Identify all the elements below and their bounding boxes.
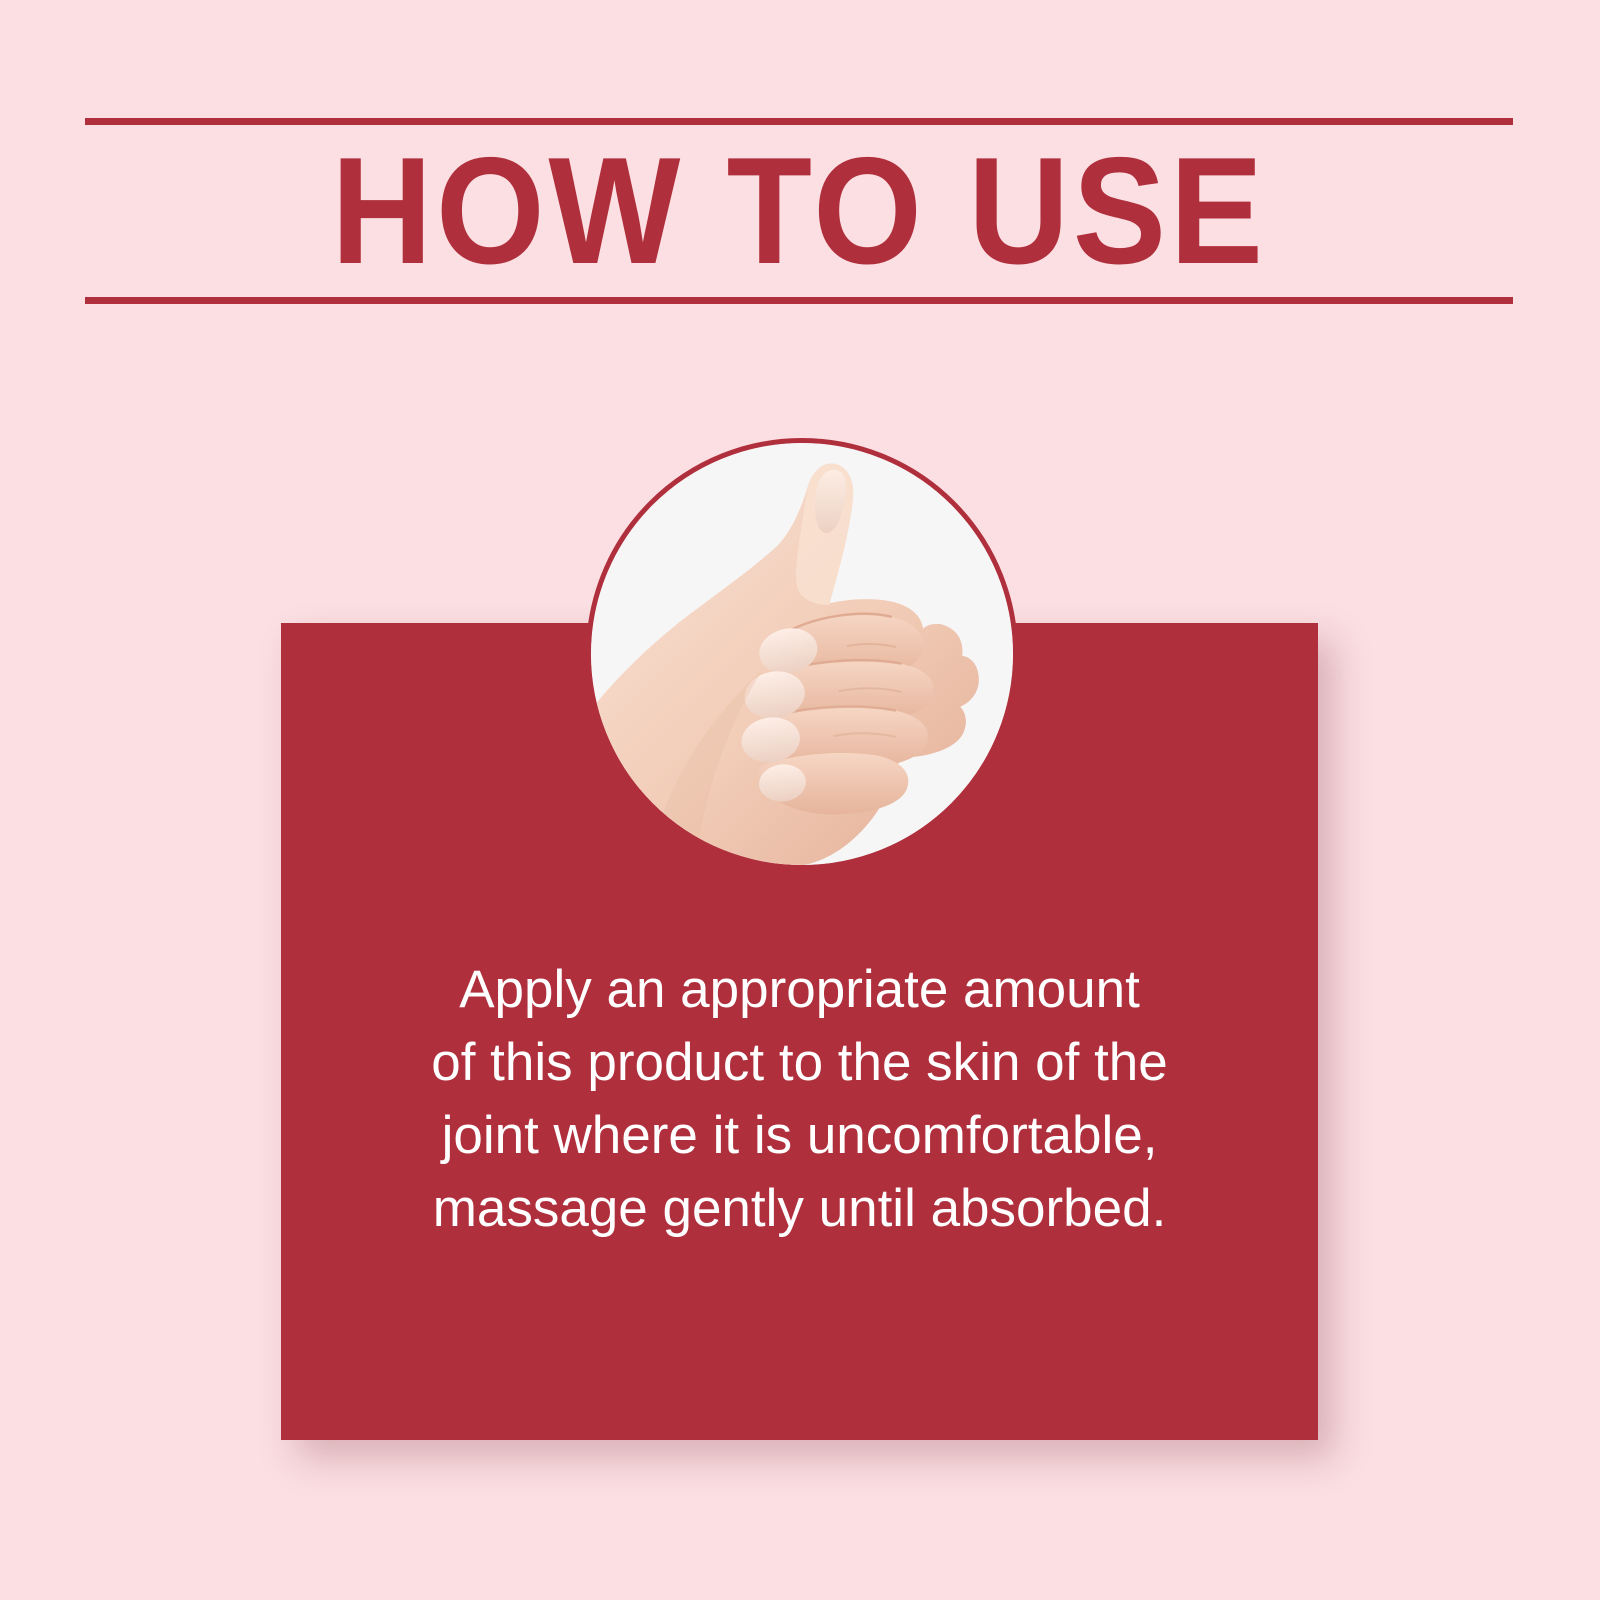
title-divider-bottom	[85, 297, 1513, 304]
thumbs-up-photo	[586, 438, 1018, 870]
page-title: HOW TO USE	[142, 124, 1456, 298]
instruction-text: Apply an appropriate amount of this prod…	[281, 953, 1318, 1246]
how-to-use-infographic: HOW TO USE Apply an appropriate amount o…	[0, 0, 1600, 1600]
header-block: HOW TO USE	[85, 118, 1513, 304]
thumbs-up-hand-icon	[591, 443, 1013, 865]
